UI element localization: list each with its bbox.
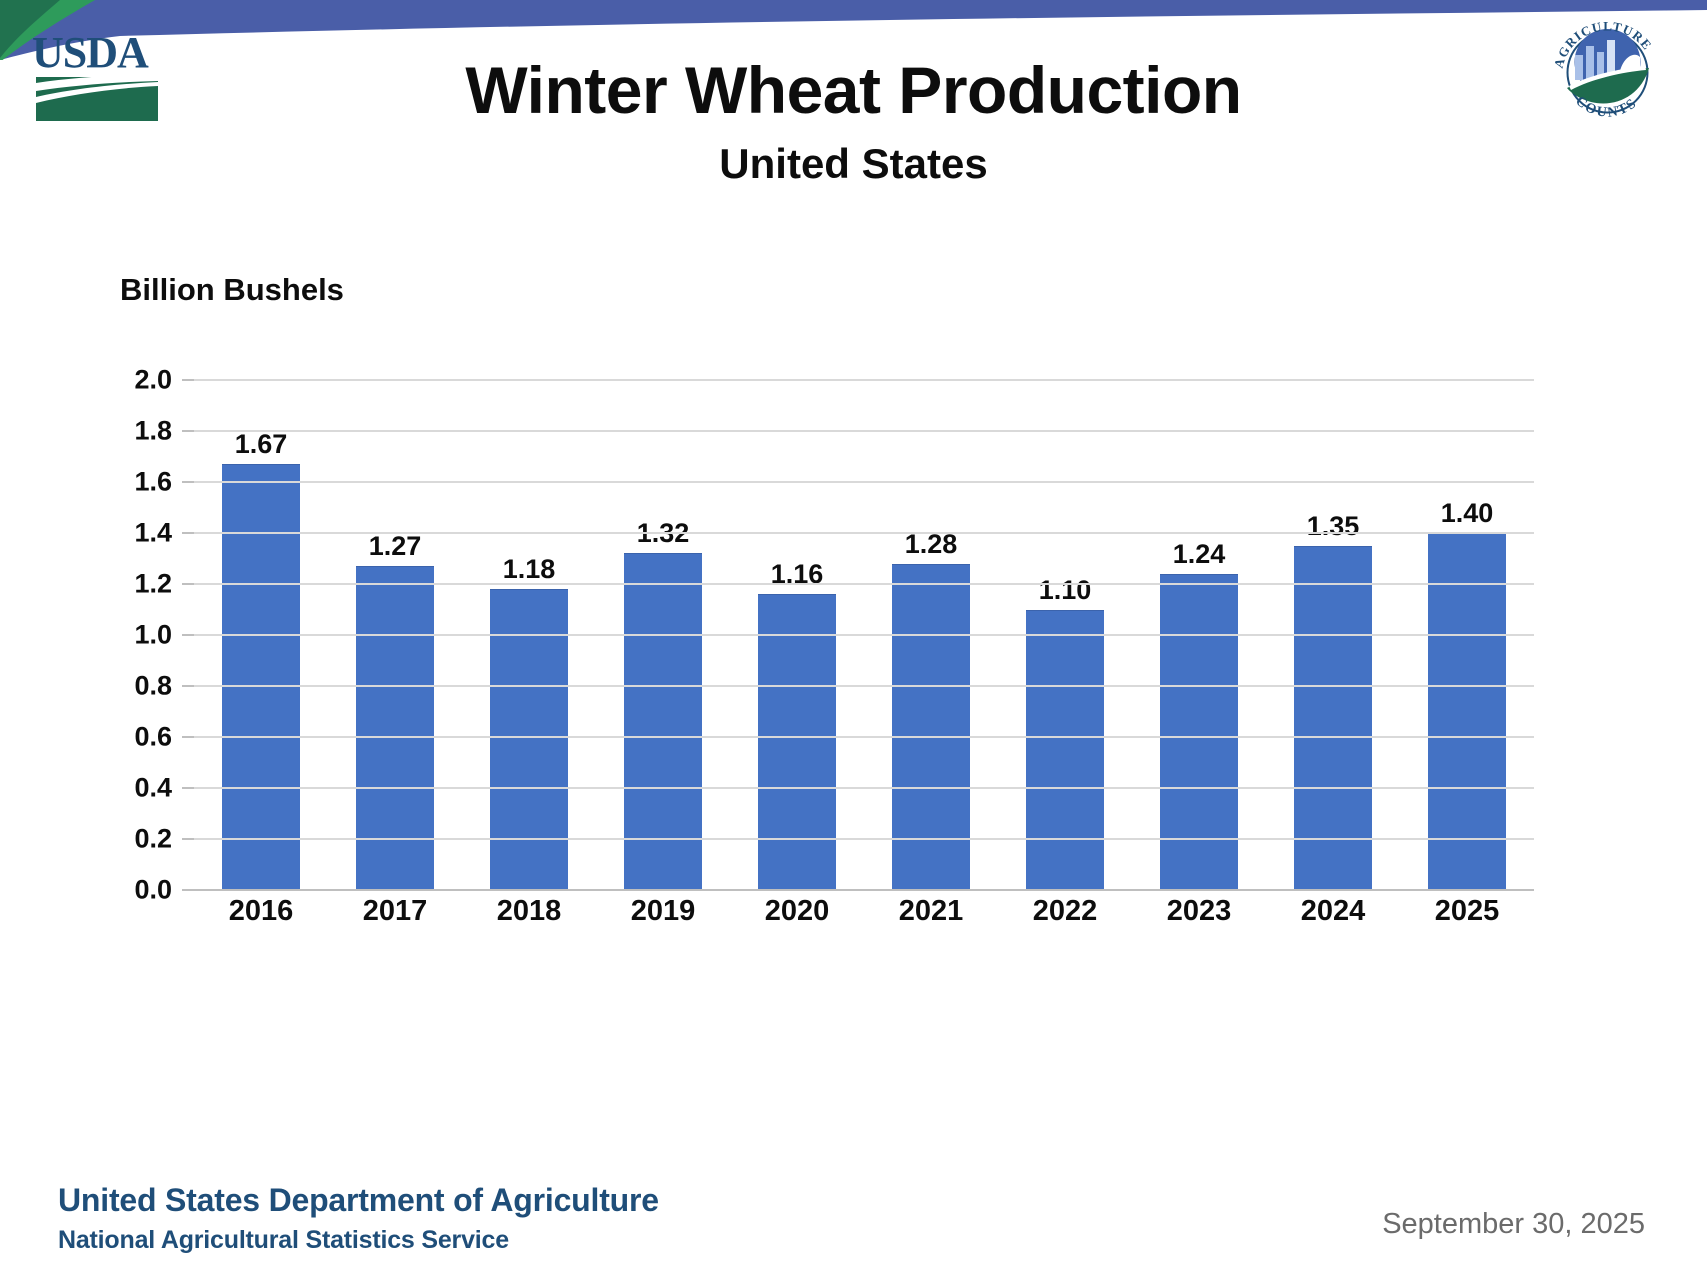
gridline (194, 838, 1534, 840)
bar-value-label: 1.35 (1307, 511, 1360, 542)
footer-agency: United States Department of Agriculture (58, 1182, 659, 1219)
x-axis-line (194, 889, 1534, 891)
bar[interactable] (758, 594, 836, 890)
x-axis-category-label: 2022 (998, 895, 1132, 928)
x-axis-category-label: 2025 (1400, 895, 1534, 928)
y-axis-tick-mark (182, 787, 194, 789)
footer-date: September 30, 2025 (1382, 1208, 1645, 1241)
y-axis-tick-label: 0.2 (134, 824, 172, 855)
y-axis-tick-mark (182, 889, 194, 891)
bar-value-label: 1.24 (1173, 539, 1226, 570)
y-axis-tick-mark (182, 685, 194, 687)
y-axis-tick-label: 0.0 (134, 875, 172, 906)
y-axis-tick-label: 0.6 (134, 722, 172, 753)
gridline (194, 736, 1534, 738)
page-subtitle: United States (0, 140, 1707, 188)
gridline (194, 532, 1534, 534)
y-axis-tick-mark (182, 583, 194, 585)
x-axis-labels: 2016201720182019202020212022202320242025 (194, 895, 1534, 928)
x-axis-category-label: 2019 (596, 895, 730, 928)
gridline (194, 583, 1534, 585)
y-axis-tick-label: 2.0 (134, 365, 172, 396)
x-axis-category-label: 2020 (730, 895, 864, 928)
y-axis-tick-label: 1.2 (134, 569, 172, 600)
y-axis-tick-label: 1.6 (134, 467, 172, 498)
x-axis-category-label: 2016 (194, 895, 328, 928)
bar[interactable] (1160, 574, 1238, 890)
gridline (194, 787, 1534, 789)
units-label: Billion Bushels (120, 272, 344, 308)
bar-value-label: 1.10 (1039, 575, 1092, 606)
x-axis-category-label: 2018 (462, 895, 596, 928)
bar-value-label: 1.18 (503, 554, 556, 585)
y-axis-tick-mark (182, 379, 194, 381)
x-axis-category-label: 2017 (328, 895, 462, 928)
x-axis-category-label: 2021 (864, 895, 998, 928)
y-axis-tick-label: 1.4 (134, 518, 172, 549)
y-axis-tick-label: 1.8 (134, 416, 172, 447)
bar-value-label: 1.16 (771, 559, 824, 590)
y-axis-tick-mark (182, 481, 194, 483)
gridline (194, 379, 1534, 381)
y-axis-tick-mark (182, 736, 194, 738)
bar[interactable] (1026, 610, 1104, 891)
bar[interactable] (892, 564, 970, 890)
y-axis: 2.01.81.61.41.21.00.80.60.40.20.0 (110, 380, 182, 890)
gridline (194, 481, 1534, 483)
y-axis-tick-label: 0.4 (134, 773, 172, 804)
bar-value-label: 1.40 (1441, 498, 1494, 529)
y-axis-tick-mark (182, 532, 194, 534)
slide-canvas: USDA AGRICULTURE COUNTS Winter Wheat Pro… (0, 0, 1707, 1280)
y-axis-tick-mark (182, 634, 194, 636)
y-axis-tick-mark (182, 430, 194, 432)
bar-value-label: 1.27 (369, 531, 422, 562)
page-title: Winter Wheat Production (0, 52, 1707, 128)
footer-service: National Agricultural Statistics Service (58, 1226, 509, 1255)
bar-chart: 2.01.81.61.41.21.00.80.60.40.20.0 1.671.… (110, 380, 1610, 890)
bar[interactable] (356, 566, 434, 890)
bar[interactable] (222, 464, 300, 890)
gridline (194, 685, 1534, 687)
x-axis-category-label: 2024 (1266, 895, 1400, 928)
y-axis-tick-mark (182, 838, 194, 840)
bar-value-label: 1.67 (235, 429, 288, 460)
corner-decoration (0, 0, 1707, 60)
bar[interactable] (1428, 533, 1506, 890)
y-axis-tick-label: 0.8 (134, 671, 172, 702)
y-axis-tick-label: 1.0 (134, 620, 172, 651)
gridline (194, 430, 1534, 432)
gridline (194, 634, 1534, 636)
x-axis-category-label: 2023 (1132, 895, 1266, 928)
plot-area: 1.671.271.181.321.161.281.101.241.351.40 (194, 380, 1534, 890)
